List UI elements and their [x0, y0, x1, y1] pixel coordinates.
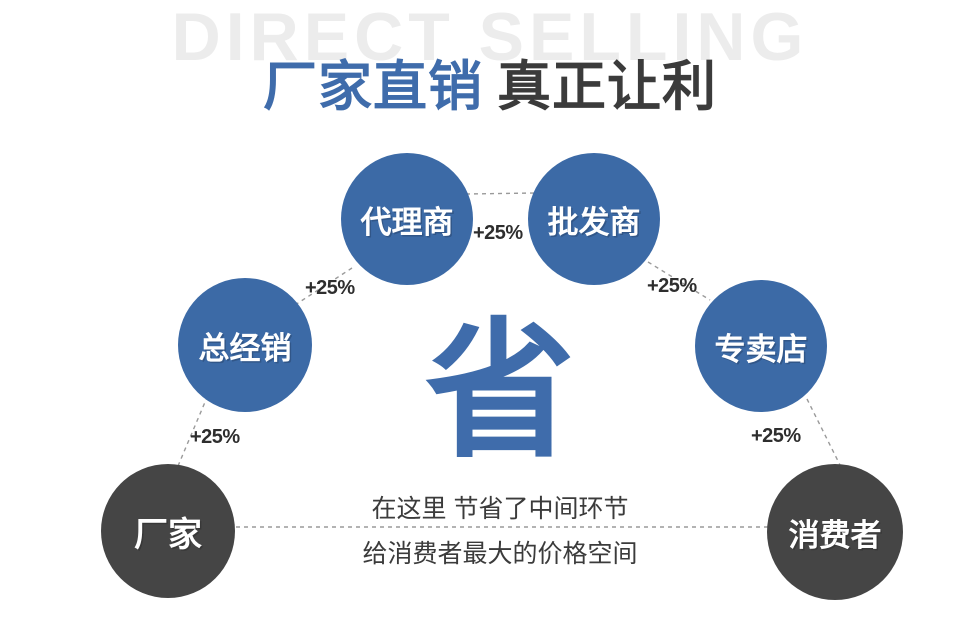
chain-node-专卖店[interactable]: 专卖店 — [695, 280, 827, 412]
infographic-canvas: DIRECT SELLING 厂家直销真正让利 省 在这里 节省了中间环节 给消… — [0, 0, 980, 641]
chain-node-label: 消费者 — [789, 510, 882, 555]
tagline-line-1: 在这里 节省了中间环节 — [330, 487, 670, 532]
chain-node-label: 批发商 — [548, 197, 641, 242]
chain-node-label: 厂家 — [134, 507, 202, 556]
chain-node-批发商[interactable]: 批发商 — [528, 153, 660, 285]
connector-代理商-to-批发商 — [466, 193, 535, 194]
markup-label-2: +25% — [305, 277, 355, 300]
chain-node-代理商[interactable]: 代理商 — [341, 153, 473, 285]
savings-character: 省 — [420, 316, 580, 466]
chain-node-总经销[interactable]: 总经销 — [178, 278, 312, 412]
chain-node-厂家[interactable]: 厂家 — [101, 464, 235, 598]
connector-专卖店-to-消费者 — [807, 399, 840, 465]
chain-node-label: 代理商 — [361, 197, 454, 242]
chain-node-消费者[interactable]: 消费者 — [767, 464, 903, 600]
chain-node-label: 专卖店 — [715, 324, 808, 369]
markup-label-3: +25% — [473, 222, 523, 245]
tagline-block: 在这里 节省了中间环节 给消费者最大的价格空间 — [330, 487, 670, 577]
markup-label-1: +25% — [190, 426, 240, 449]
markup-label-4: +25% — [647, 275, 697, 298]
chain-node-label: 总经销 — [199, 323, 292, 368]
markup-label-5: +25% — [751, 425, 801, 448]
tagline-line-2: 给消费者最大的价格空间 — [330, 532, 670, 577]
